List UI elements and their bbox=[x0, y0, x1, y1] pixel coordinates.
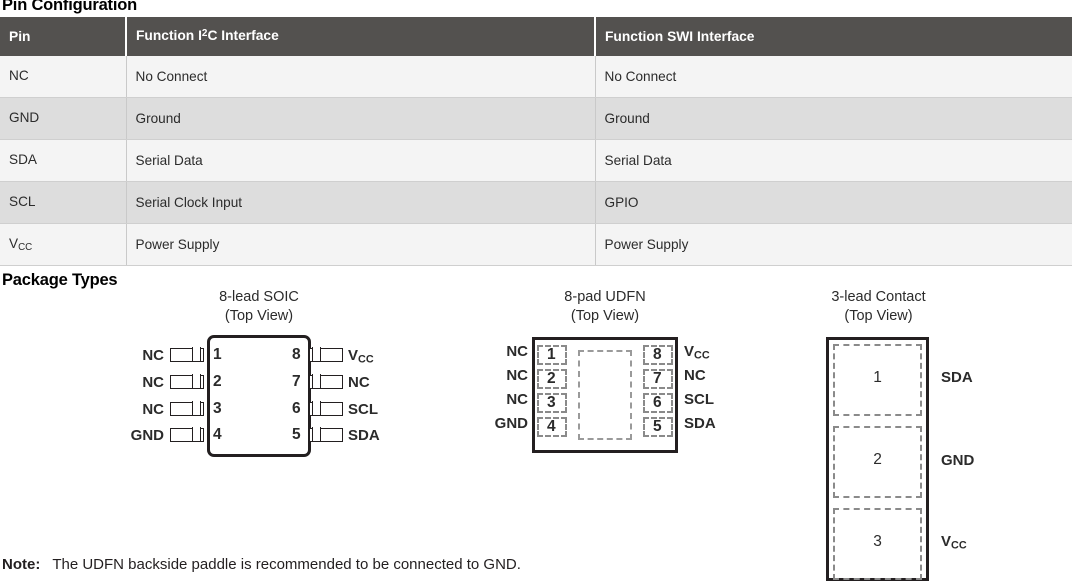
contact-pad-label-2-text: GND bbox=[941, 452, 974, 469]
cell-swi: No Connect bbox=[595, 56, 1072, 98]
udfn-pin-label-7: NC bbox=[684, 368, 706, 383]
cell-pin: GND bbox=[0, 98, 126, 140]
udfn-pad-number-5: 5 bbox=[653, 419, 662, 434]
cell-pin-text: SDA bbox=[9, 152, 37, 167]
udfn-pin-label-1: NC bbox=[452, 344, 528, 359]
soic-pin-number-4: 4 bbox=[213, 427, 222, 442]
soic-pin-label-8-sub: CC bbox=[358, 353, 374, 365]
table-row: NC No Connect No Connect bbox=[0, 56, 1072, 98]
contact-title-line1: 3-lead Contact bbox=[831, 289, 925, 305]
soic-pin-label-5: SDA bbox=[348, 428, 380, 443]
udfn-pad-number-2: 2 bbox=[547, 371, 556, 386]
column-header-i2c-pre: Function I bbox=[136, 29, 202, 44]
soic-lead-4 bbox=[170, 428, 204, 442]
soic-pin-label-4: GND bbox=[90, 428, 164, 443]
udfn-pad-number-4: 4 bbox=[547, 419, 556, 434]
table-row: VCC Power Supply Power Supply bbox=[0, 224, 1072, 266]
cell-swi: Ground bbox=[595, 98, 1072, 140]
udfn-pin-label-5: SDA bbox=[684, 416, 716, 431]
soic-title: 8-lead SOIC (Top View) bbox=[179, 288, 339, 326]
cell-pin-text: V bbox=[9, 236, 18, 251]
contact-pad-label-1-text: SDA bbox=[941, 369, 973, 386]
table-row: SCL Serial Clock Input GPIO bbox=[0, 182, 1072, 224]
soic-pin-number-7: 7 bbox=[292, 374, 301, 389]
table-row: GND Ground Ground bbox=[0, 98, 1072, 140]
udfn-pin-label-3: NC bbox=[452, 392, 528, 407]
udfn-backside-paddle bbox=[578, 350, 632, 440]
soic-pin-label-7-text: NC bbox=[348, 374, 370, 391]
column-header-pin: Pin bbox=[0, 17, 126, 56]
cell-pin-subscript: CC bbox=[18, 242, 32, 253]
soic-pin-number-1: 1 bbox=[213, 347, 222, 362]
cell-i2c: Ground bbox=[126, 98, 595, 140]
udfn-pin-label-8-text: V bbox=[684, 343, 694, 360]
soic-pin-number-8: 8 bbox=[292, 347, 301, 362]
cell-swi: GPIO bbox=[595, 182, 1072, 224]
soic-lead--5 bbox=[309, 428, 343, 442]
udfn-pad-number-6: 6 bbox=[653, 395, 662, 410]
udfn-pin-label-6-text: SCL bbox=[684, 391, 714, 408]
cell-pin-text: SCL bbox=[9, 194, 35, 209]
soic-pin-label-2: NC bbox=[90, 375, 164, 390]
contact-pad-label-3: VCC bbox=[941, 533, 967, 551]
soic-title-line2: (Top View) bbox=[179, 307, 339, 326]
table-row: SDA Serial Data Serial Data bbox=[0, 140, 1072, 182]
contact-pad-label-3-text: V bbox=[941, 533, 951, 550]
cell-pin: SDA bbox=[0, 140, 126, 182]
cell-swi: Power Supply bbox=[595, 224, 1072, 266]
udfn-pin-label-8: VCC bbox=[684, 344, 710, 363]
soic-lead-2 bbox=[170, 375, 204, 389]
soic-pin-label-8-text: V bbox=[348, 347, 358, 364]
note-text: The UDFN backside paddle is recommended … bbox=[52, 556, 521, 573]
soic-lead-nub bbox=[192, 374, 201, 388]
soic-pin-number-2: 2 bbox=[213, 374, 222, 389]
udfn-title-line1: 8-pad UDFN bbox=[564, 289, 645, 305]
soic-pin-label-8: VCC bbox=[348, 348, 374, 367]
udfn-pin-label-6: SCL bbox=[684, 392, 714, 407]
column-header-i2c-post: C Interface bbox=[207, 29, 278, 44]
cell-i2c: Serial Data bbox=[126, 140, 595, 182]
cell-pin-text: NC bbox=[9, 68, 29, 83]
udfn-title-line2: (Top View) bbox=[525, 307, 685, 326]
soic-pin-label-5-text: SDA bbox=[348, 427, 380, 444]
soic-pin-label-3: NC bbox=[90, 402, 164, 417]
soic-lead-nub bbox=[312, 374, 321, 388]
contact-pad-label-2: GND bbox=[941, 452, 974, 469]
contact-pad-label-3-sub: CC bbox=[951, 539, 967, 551]
cell-pin: VCC bbox=[0, 224, 126, 266]
soic-pin-label-6-text: SCL bbox=[348, 401, 378, 418]
soic-lead-7 bbox=[309, 375, 343, 389]
soic-lead-nub bbox=[192, 401, 201, 415]
soic-lead-8 bbox=[309, 348, 343, 362]
udfn-pad-number-8: 8 bbox=[653, 347, 662, 362]
udfn-pad-number-1: 1 bbox=[547, 347, 556, 362]
soic-title-line1: 8-lead SOIC bbox=[219, 289, 299, 305]
cell-i2c: Serial Clock Input bbox=[126, 182, 595, 224]
column-header-swi: Function SWI Interface bbox=[595, 17, 1072, 56]
section-title-package-types: Package Types bbox=[2, 271, 117, 290]
soic-lead-nub bbox=[312, 401, 321, 415]
contact-title-line2: (Top View) bbox=[797, 307, 960, 326]
column-header-i2c: Function I2C Interface bbox=[126, 17, 595, 56]
soic-lead-nub bbox=[192, 427, 201, 441]
contact-pad-number-3: 3 bbox=[833, 533, 922, 551]
cell-i2c: No Connect bbox=[126, 56, 595, 98]
udfn-pad-number-7: 7 bbox=[653, 371, 662, 386]
soic-lead-nub bbox=[312, 427, 321, 441]
cell-i2c: Power Supply bbox=[126, 224, 595, 266]
soic-pin-label-6: SCL bbox=[348, 402, 378, 417]
soic-lead-3 bbox=[170, 402, 204, 416]
page-title-pin-configuration: Pin Configuration bbox=[2, 0, 137, 15]
udfn-title: 8-pad UDFN (Top View) bbox=[525, 288, 685, 326]
soic-pin-label-7: NC bbox=[348, 375, 370, 390]
contact-title: 3-lead Contact (Top View) bbox=[797, 288, 960, 326]
udfn-pin-label-2: NC bbox=[452, 368, 528, 383]
soic-lead-nub bbox=[312, 347, 321, 361]
table-header-row: Pin Function I2C Interface Function SWI … bbox=[0, 17, 1072, 56]
contact-pad-number-1: 1 bbox=[833, 369, 922, 387]
contact-pad-label-1: SDA bbox=[941, 369, 973, 386]
udfn-pin-label-8-sub: CC bbox=[694, 349, 710, 361]
cell-pin: SCL bbox=[0, 182, 126, 224]
udfn-pin-label-4: GND bbox=[452, 416, 528, 431]
soic-lead-6 bbox=[309, 402, 343, 416]
pin-configuration-table: Pin Function I2C Interface Function SWI … bbox=[0, 17, 1072, 266]
note-label: Note: bbox=[2, 556, 40, 573]
soic-pin-label-1: NC bbox=[90, 348, 164, 363]
cell-pin-text: GND bbox=[9, 110, 39, 125]
udfn-pad-number-3: 3 bbox=[547, 395, 556, 410]
soic-lead-1 bbox=[170, 348, 204, 362]
soic-pin-number-5: 5 bbox=[292, 427, 301, 442]
cell-pin: NC bbox=[0, 56, 126, 98]
contact-pad-number-2: 2 bbox=[833, 451, 922, 469]
udfn-pin-label-5-text: SDA bbox=[684, 415, 716, 432]
soic-lead-nub bbox=[192, 347, 201, 361]
cell-swi: Serial Data bbox=[595, 140, 1072, 182]
udfn-pin-label-7-text: NC bbox=[684, 367, 706, 384]
soic-pin-number-3: 3 bbox=[213, 401, 222, 416]
soic-pin-number-6: 6 bbox=[292, 401, 301, 416]
note-line: Note:The UDFN backside paddle is recomme… bbox=[2, 556, 521, 573]
